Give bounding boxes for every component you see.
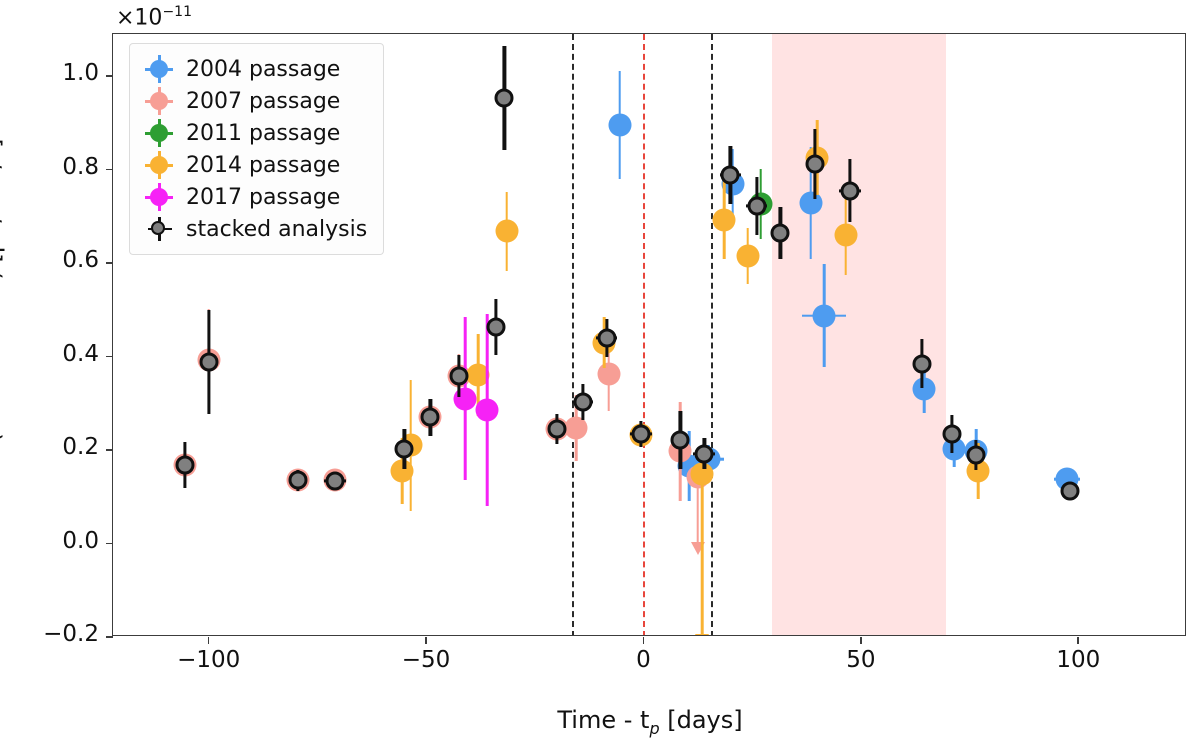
legend-item-2017-passage[interactable]: 2017 passage (140, 181, 367, 213)
passage-marker (608, 114, 631, 137)
y-tick-label: −0.2 (9, 621, 99, 647)
legend-label: 2011 passage (186, 121, 340, 146)
x-tick-mark (860, 637, 862, 644)
y-tick-mark (106, 543, 113, 545)
legend-item-2004-passage[interactable]: 2004 passage (140, 53, 367, 85)
stacked-marker (747, 197, 766, 216)
vline-marker-2 (711, 34, 713, 635)
stacked-marker (449, 367, 468, 386)
x-axis-label-main: Time - t (557, 706, 649, 734)
y-tick-label: 1.0 (9, 60, 99, 86)
plot-area: Time - tp [days] 2004 passage2007 passag… (112, 33, 1186, 636)
shaded-interval-band (772, 34, 946, 635)
y-axis-offset-text: ×10−11 (116, 4, 192, 30)
upper-limit-arrow-shaft (701, 474, 704, 634)
x-tick-mark (1077, 637, 1079, 644)
legend: 2004 passage2007 passage2011 passage2014… (129, 43, 384, 255)
offset-exponent: −11 (162, 4, 192, 20)
legend-label: 2004 passage (186, 57, 340, 82)
legend-label: 2007 passage (186, 89, 340, 114)
x-tick-mark (643, 637, 645, 644)
stacked-marker (395, 440, 414, 459)
passage-marker (712, 208, 735, 231)
passage-marker (565, 417, 588, 440)
y-tick-mark (106, 449, 113, 451)
x-tick-label: −100 (149, 647, 269, 673)
passage-marker (495, 220, 518, 243)
x-tick-label: 50 (801, 647, 921, 673)
legend-label: stacked analysis (186, 217, 367, 242)
legend-marker-icon (140, 118, 182, 148)
stacked-marker (967, 445, 986, 464)
stacked-marker (1060, 482, 1079, 501)
stacked-marker (573, 392, 592, 411)
stacked-marker (841, 181, 860, 200)
y-tick-mark (106, 262, 113, 264)
stacked-marker (632, 425, 651, 444)
stacked-marker (486, 318, 505, 337)
x-axis-label: Time - tp [days] (113, 706, 1187, 738)
legend-item-stacked-analysis[interactable]: stacked analysis (140, 213, 367, 245)
legend-label: 2014 passage (186, 153, 340, 178)
y-tick-label: 0.6 (9, 247, 99, 273)
stacked-marker (288, 471, 307, 490)
stacked-marker (175, 455, 194, 474)
y-tick-mark (106, 75, 113, 77)
vline-marker-0 (572, 34, 574, 635)
y-tick-mark (106, 636, 113, 638)
y-tick-label: 0.0 (9, 528, 99, 554)
stacked-marker (325, 471, 344, 490)
legend-item-2007-passage[interactable]: 2007 passage (140, 85, 367, 117)
x-tick-label: 0 (583, 647, 703, 673)
stacked-marker (806, 154, 825, 173)
passage-marker (799, 192, 822, 215)
x-tick-label: 100 (1018, 647, 1138, 673)
x-axis-label-unit: [days] (660, 706, 743, 734)
y-tick-label: 0.2 (9, 434, 99, 460)
passage-marker (475, 399, 498, 422)
y-tick-label: 0.8 (9, 154, 99, 180)
x-tick-mark (425, 637, 427, 644)
stacked-marker (771, 224, 790, 243)
stacked-marker (421, 408, 440, 427)
offset-mantissa: ×10 (116, 5, 162, 30)
legend-item-2011-passage[interactable]: 2011 passage (140, 117, 367, 149)
passage-marker (736, 245, 759, 268)
y-axis-label: Φ(E > 400 GeV) [ph/cm2/s] (0, 139, 6, 462)
legend-marker-icon (140, 214, 182, 244)
stacked-marker (199, 353, 218, 372)
x-axis-label-sub: p (649, 719, 659, 738)
legend-item-2014-passage[interactable]: 2014 passage (140, 149, 367, 181)
x-tick-mark (208, 637, 210, 644)
passage-marker (597, 362, 620, 385)
stacked-marker (547, 419, 566, 438)
upper-limit-arrow-head (695, 634, 709, 635)
stacked-marker (721, 166, 740, 185)
y-tick-mark (106, 356, 113, 358)
passage-marker (912, 378, 935, 401)
stacked-marker (671, 431, 690, 450)
legend-marker-icon (140, 150, 182, 180)
vline-marker-1 (643, 34, 645, 635)
y-tick-mark (106, 169, 113, 171)
legend-label: 2017 passage (186, 185, 340, 210)
figure-canvas: ×10−11 Φ(E > 400 GeV) [ph/cm2/s] Time - … (0, 0, 1200, 708)
passage-marker (834, 224, 857, 247)
stacked-marker (495, 89, 514, 108)
passage-marker (812, 304, 835, 327)
x-tick-label: −50 (366, 647, 486, 673)
legend-marker-icon (140, 182, 182, 212)
stacked-marker (695, 444, 714, 463)
legend-marker-icon (140, 54, 182, 84)
y-tick-label: 0.4 (9, 341, 99, 367)
stacked-marker (912, 354, 931, 373)
legend-marker-icon (140, 86, 182, 116)
stacked-marker (943, 425, 962, 444)
stacked-marker (597, 328, 616, 347)
